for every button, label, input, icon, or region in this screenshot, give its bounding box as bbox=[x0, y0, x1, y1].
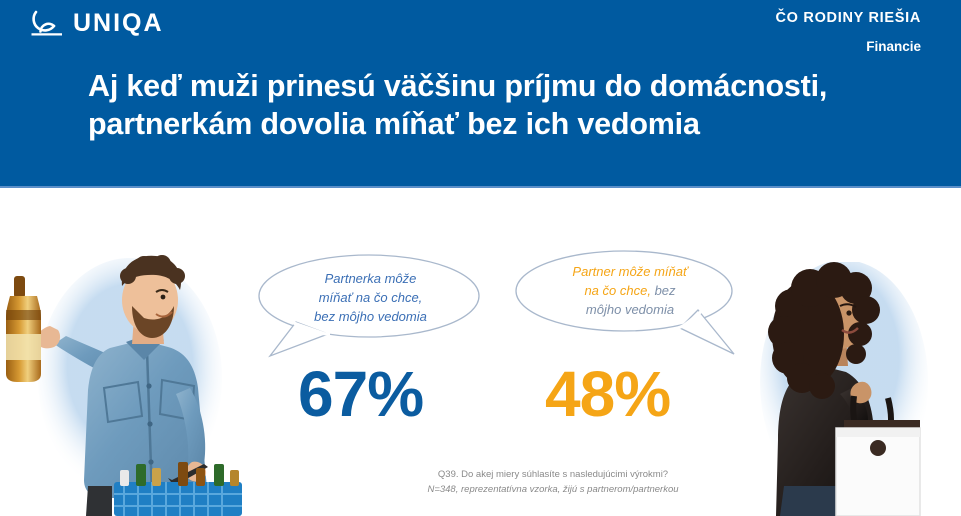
footnote-question: Q39. Do akej miery súhlasíte s nasledujú… bbox=[388, 468, 718, 483]
uniqa-wordmark: UNIQA bbox=[73, 11, 164, 36]
page-title: Aj keď muži prinesú väčšinu príjmu do do… bbox=[88, 68, 888, 144]
header-kicker: ČO RODINY RIEŠIA bbox=[776, 10, 921, 26]
speech-bubble-right-text: Partner môže míňať na čo chce, bez môjho… bbox=[540, 262, 720, 320]
bubble-left-line3: bez môjho vedomia bbox=[314, 309, 427, 324]
bubble-left-line1: Partnerka môže bbox=[325, 271, 417, 286]
bubble-right-line1: Partner môže míňať bbox=[572, 264, 687, 279]
bubble-left-line2: míňať na čo chce, bbox=[319, 290, 423, 305]
bubble-right-line2a: na čo chce, bbox=[584, 283, 651, 298]
uniqa-wave-logo-icon bbox=[30, 9, 64, 37]
stat-value-right: 48% bbox=[545, 362, 670, 426]
uniqa-logo[interactable]: UNIQA bbox=[30, 8, 164, 38]
speech-bubble-left-text: Partnerka môže míňať na čo chce, bez môj… bbox=[278, 269, 463, 327]
footnote-sample: N=348, reprezentatívna vzorka, žijú s pa… bbox=[388, 483, 718, 498]
photo-woman-with-shopping-bags bbox=[748, 262, 948, 516]
infographic-slide: UNIQA ČO RODINY RIEŠIA Financie Aj keď m… bbox=[0, 0, 961, 516]
photo-man-with-basket bbox=[0, 248, 242, 516]
stat-value-left: 67% bbox=[298, 362, 423, 426]
speech-bubble-left: Partnerka môže míňať na čo chce, bez môj… bbox=[256, 252, 486, 364]
header-kicker-sub: Financie bbox=[866, 39, 921, 54]
bubble-right-line2b: bez bbox=[655, 283, 676, 298]
footnote: Q39. Do akej miery súhlasíte s nasledujú… bbox=[388, 468, 718, 497]
bubble-right-line3: môjho vedomia bbox=[586, 302, 674, 317]
speech-bubble-right: Partner môže míňať na čo chce, bez môjho… bbox=[512, 248, 752, 363]
